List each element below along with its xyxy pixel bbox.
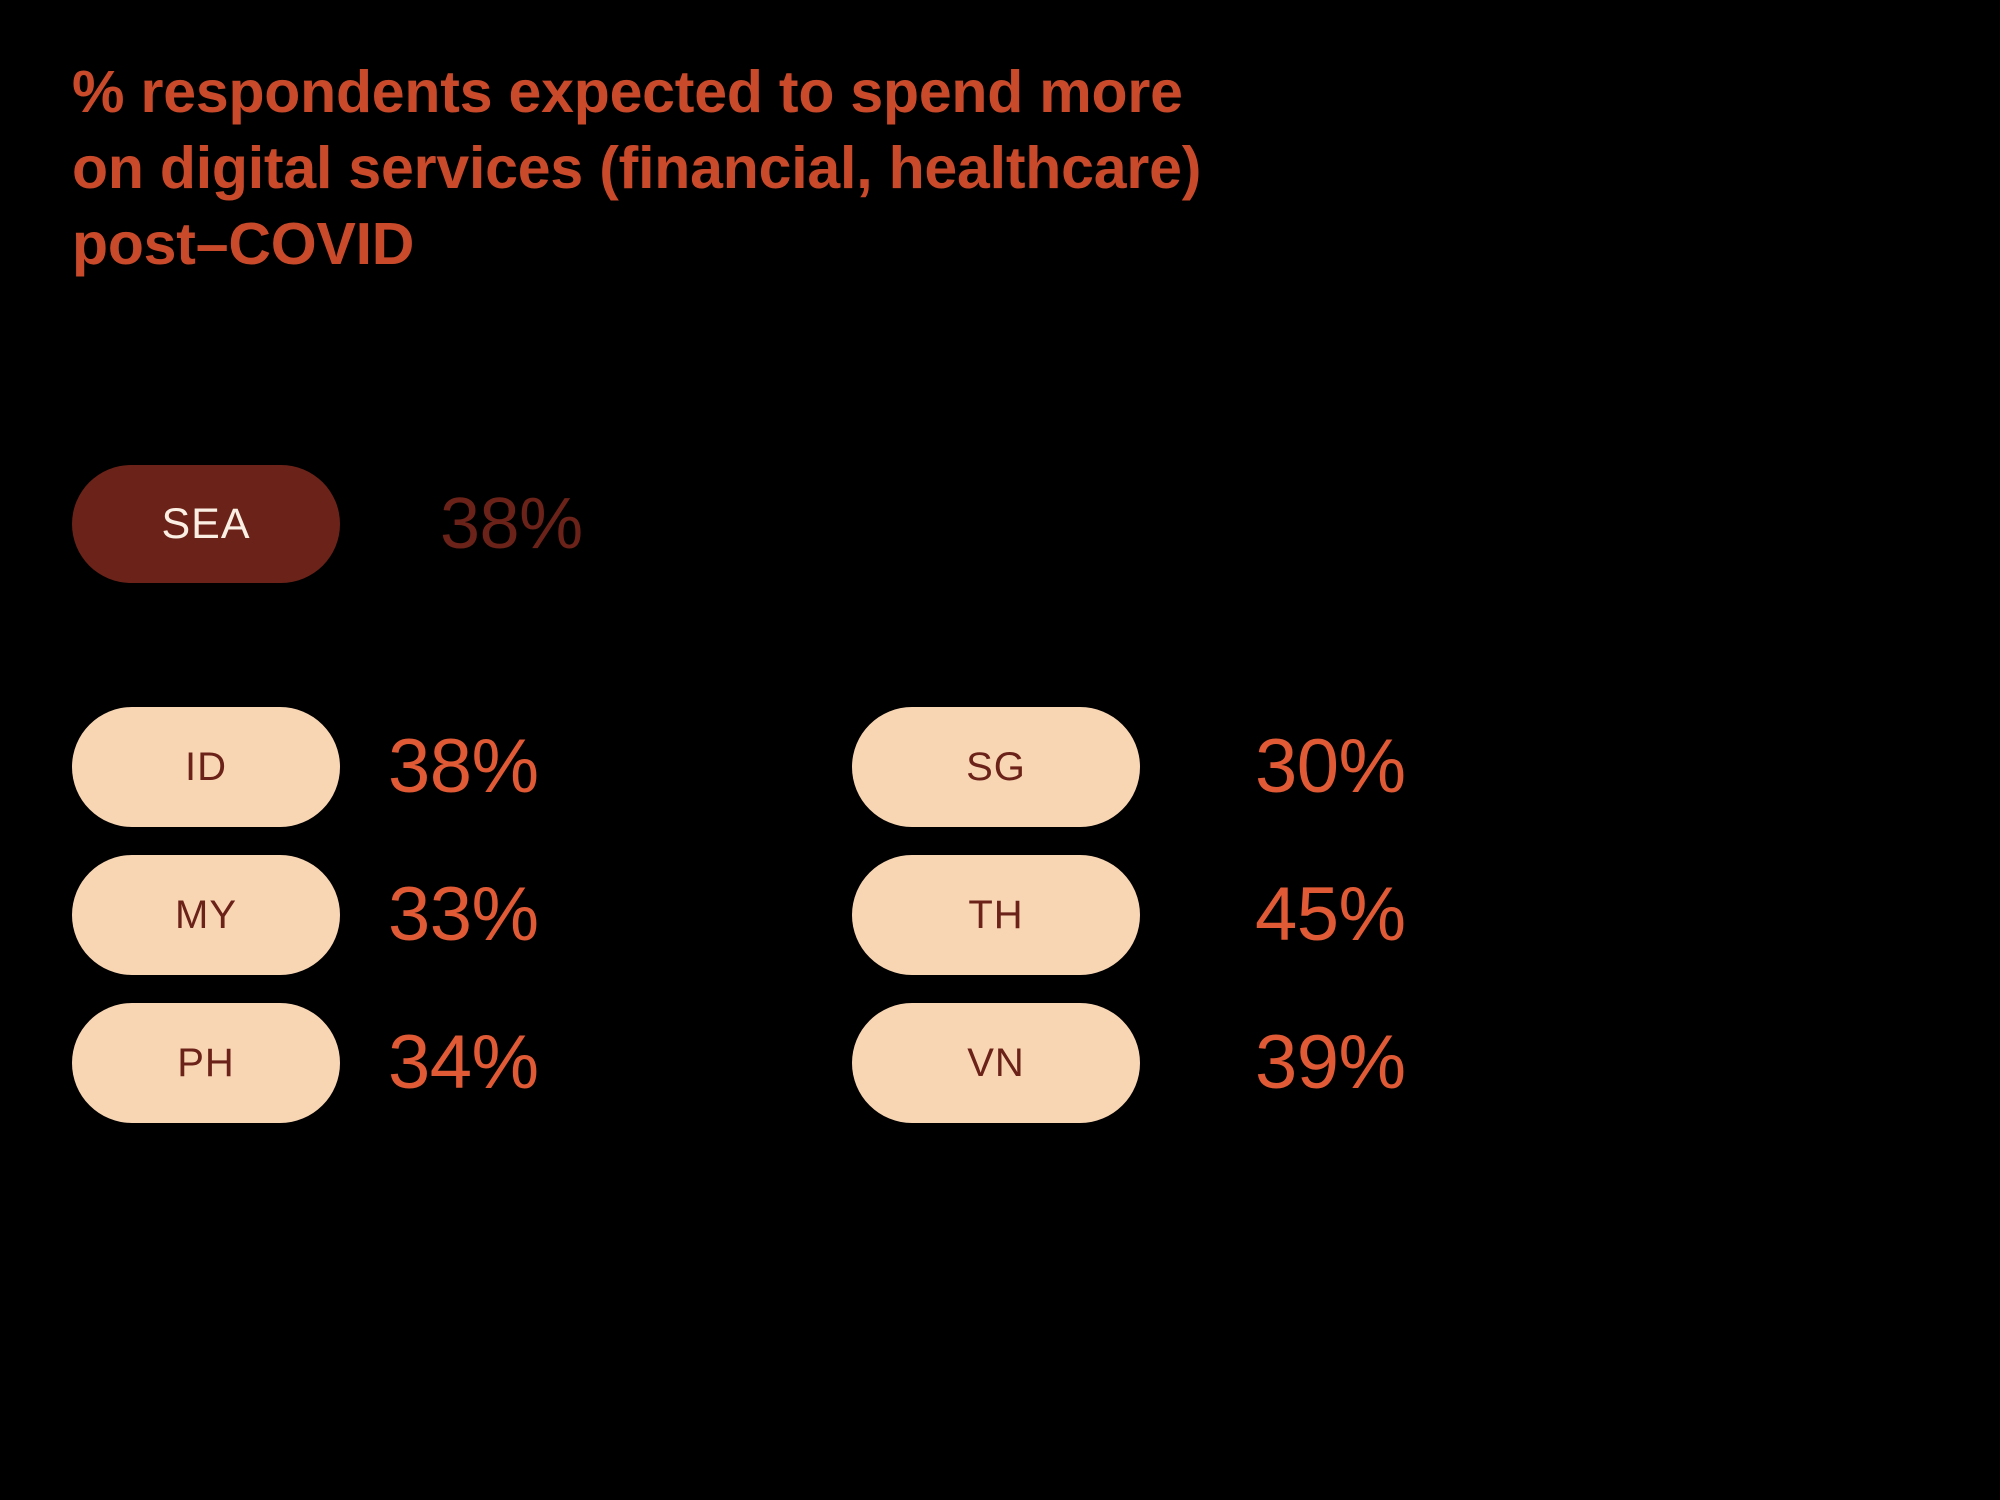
country-value-ph: 34%: [340, 1025, 852, 1101]
country-value-th: 45%: [1140, 877, 1406, 953]
country-value-my: 33%: [340, 877, 852, 953]
country-value-id: 38%: [340, 729, 852, 805]
country-grid: ID 38% SG 30% MY 33% TH 45% PH 34% VN 39…: [72, 707, 1406, 1123]
country-pill-ph[interactable]: PH: [72, 1003, 340, 1123]
infographic-canvas: % respondents expected to spend more on …: [0, 0, 2000, 1500]
country-value-vn: 39%: [1140, 1025, 1406, 1101]
aggregate-pill-sea[interactable]: SEA: [72, 465, 340, 583]
country-pill-id[interactable]: ID: [72, 707, 340, 827]
aggregate-value-sea: 38%: [440, 488, 583, 560]
aggregate-row: SEA 38%: [72, 465, 583, 583]
country-pill-my[interactable]: MY: [72, 855, 340, 975]
country-value-sg: 30%: [1140, 729, 1406, 805]
page-title: % respondents expected to spend more on …: [72, 54, 1712, 282]
country-pill-th[interactable]: TH: [852, 855, 1140, 975]
country-pill-sg[interactable]: SG: [852, 707, 1140, 827]
country-pill-vn[interactable]: VN: [852, 1003, 1140, 1123]
